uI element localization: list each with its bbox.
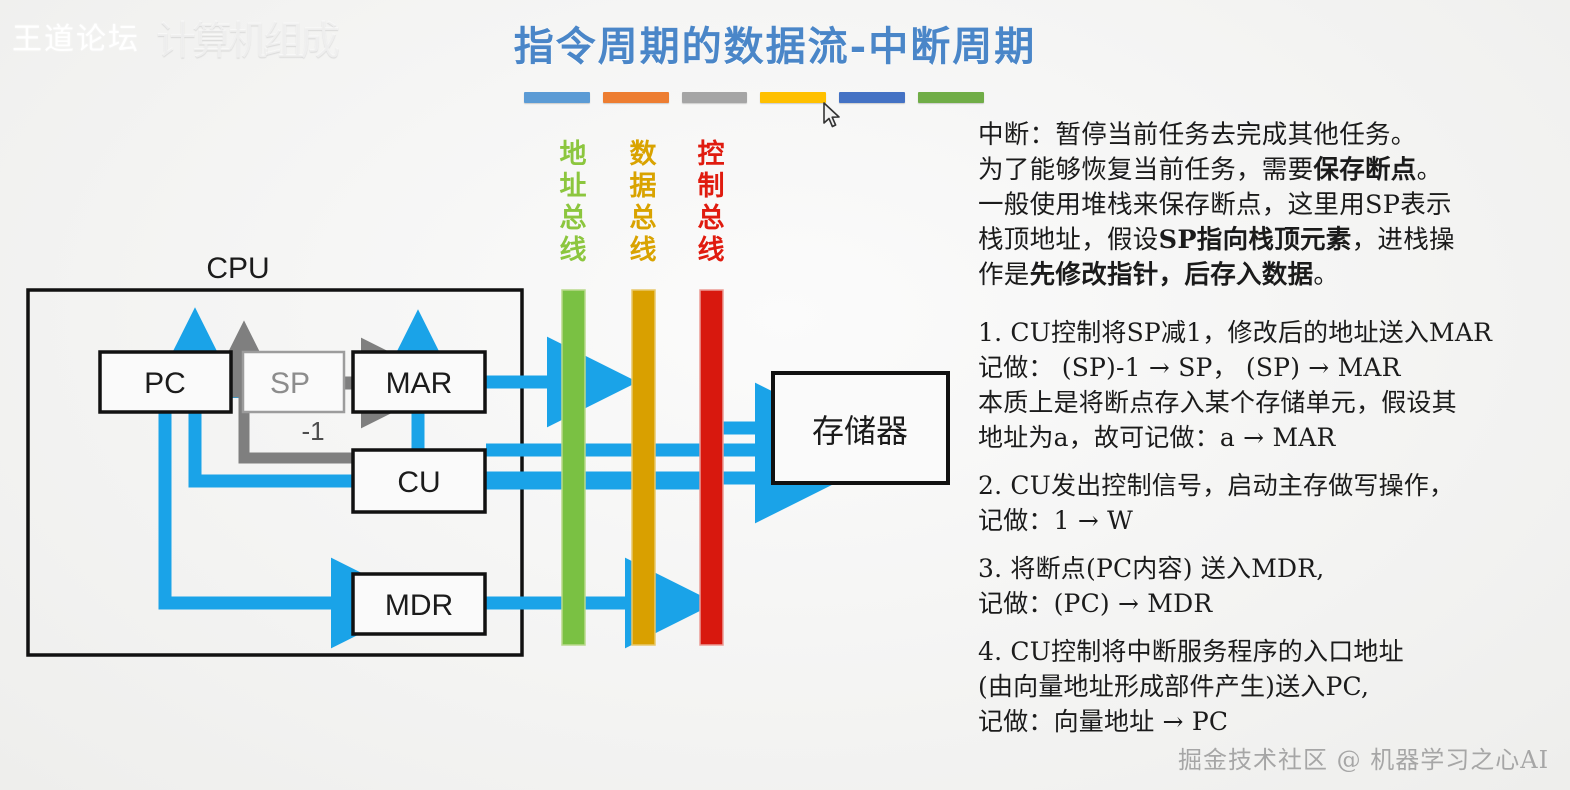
svg-text:线: 线 [630,235,657,266]
address-bus-label: 地址 总线 [560,139,587,266]
title-rule [524,92,984,105]
rule-seg-navy [839,92,905,103]
plain-text: 。 [1417,155,1443,185]
pc-label: PC [144,367,186,400]
svg-text:线: 线 [698,235,725,266]
svg-text:总: 总 [630,203,657,234]
step-line: 4. CU控制将中断服务程序的入口地址 [978,634,1566,669]
rule-seg-orange [603,92,669,103]
step-2: 2. CU发出控制信号，启动主存做写操作，记做：1 → W [978,468,1566,538]
mdr-label: MDR [385,589,453,622]
site-watermark: 掘金技术社区 @ 机器学习之心AI [1178,740,1549,775]
step-line: 记做：1 → W [978,503,1566,538]
step-line: 3. 将断点(PC内容) 送入MDR, [978,551,1566,586]
emphasis-text: 保存断点 [1313,155,1416,185]
plain-text: ，进栈操 [1352,225,1455,255]
svg-text:总: 总 [698,203,725,234]
svg-text:地: 地 [560,139,587,170]
step-line: 2. CU发出控制信号，启动主存做写操作， [978,468,1566,503]
mar-label: MAR [386,367,453,400]
slide-title-text: 指令周期的数据流-中断周期 [514,14,1037,72]
plain-text: 作是 [978,260,1030,290]
plain-text: 中断：暂停当前任务去完成其他任务。 [978,120,1417,150]
emphasis-text: SP指向栈顶元素 [1159,225,1352,255]
svg-text:数: 数 [630,139,658,170]
step-line: 记做： (SP)-1 → SP， (SP) → MAR [978,350,1566,385]
intro-line: 栈顶地址，假设SP指向栈顶元素，进栈操 [978,223,1566,258]
sp-label: SP [270,367,310,400]
step-line: 本质上是将断点存入某个存储单元，假设其 [978,385,1566,420]
rule-seg-gray [682,92,748,103]
step-4: 4. CU控制将中断服务程序的入口地址(由向量地址形成部件产生)送入PC,记做：… [978,634,1566,739]
forum-watermark: 计算机组成 王道论坛 [8,8,298,64]
notes-panel: 中断：暂停当前任务去完成其他任务。为了能够恢复当前任务，需要保存断点。一般使用堆… [978,118,1566,752]
data-bus-bar [632,290,655,645]
svg-text:制: 制 [698,171,725,202]
cu-label: CU [397,466,440,499]
register-boxes: PC SP MAR CU MDR [100,352,485,634]
emphasis-text: 先修改指针，后存入数据 [1030,260,1314,290]
decrement-label: -1 [301,416,324,446]
step-1: 1. CU控制将SP减1，修改后的地址送入MAR记做： (SP)-1 → SP，… [978,315,1566,455]
step-line: 记做：(PC) → MDR [978,586,1566,621]
step-3: 3. 将断点(PC内容) 送入MDR,记做：(PC) → MDR [978,551,1566,621]
cpu-label: CPU [206,252,269,285]
cpu-bus-diagram: CPU [0,110,960,670]
svg-text:总: 总 [560,203,587,234]
plain-text: 为了能够恢复当前任务，需要 [978,155,1313,185]
slide-canvas: 计算机组成 王道论坛 指令周期的数据流-中断周期 CPU [0,0,1570,790]
step-line: 地址为a，故可记做：a → MAR [978,420,1566,455]
bus-bars [562,290,723,645]
rule-seg-green [918,92,984,103]
plain-text: 栈顶地址，假设 [978,225,1159,255]
memory-label: 存储器 [812,412,908,450]
address-bus-bar [562,290,585,645]
intro-line: 作是先修改指针，后存入数据。 [978,258,1566,293]
svg-text:线: 线 [560,235,587,266]
step-line: 记做：向量地址 → PC [978,704,1566,739]
steps-list: 1. CU控制将SP减1，修改后的地址送入MAR记做： (SP)-1 → SP，… [978,315,1566,739]
control-bus-label: 控制 总线 [698,139,725,266]
forum-logo-mark: 计算机组成 [156,8,336,66]
rule-seg-gold [760,92,826,103]
plain-text: 。 [1313,260,1339,290]
intro-line: 中断：暂停当前任务去完成其他任务。 [978,118,1566,153]
intro-paragraph: 中断：暂停当前任务去完成其他任务。为了能够恢复当前任务，需要保存断点。一般使用堆… [978,118,1566,293]
intro-line: 为了能够恢复当前任务，需要保存断点。 [978,153,1566,188]
rule-seg-blue [524,92,590,103]
svg-text:据: 据 [630,171,657,202]
data-bus-label: 数据 总线 [630,139,658,266]
svg-text:控: 控 [698,139,725,170]
plain-text: 一般使用堆栈来保存断点，这里用SP表示 [978,190,1452,220]
step-line: 1. CU控制将SP减1，修改后的地址送入MAR [978,315,1566,350]
control-bus-bar [700,290,723,645]
intro-line: 一般使用堆栈来保存断点，这里用SP表示 [978,188,1566,223]
step-line: (由向量地址形成部件产生)送入PC, [978,669,1566,704]
forum-name: 王道论坛 [12,14,140,58]
svg-text:址: 址 [560,171,587,202]
